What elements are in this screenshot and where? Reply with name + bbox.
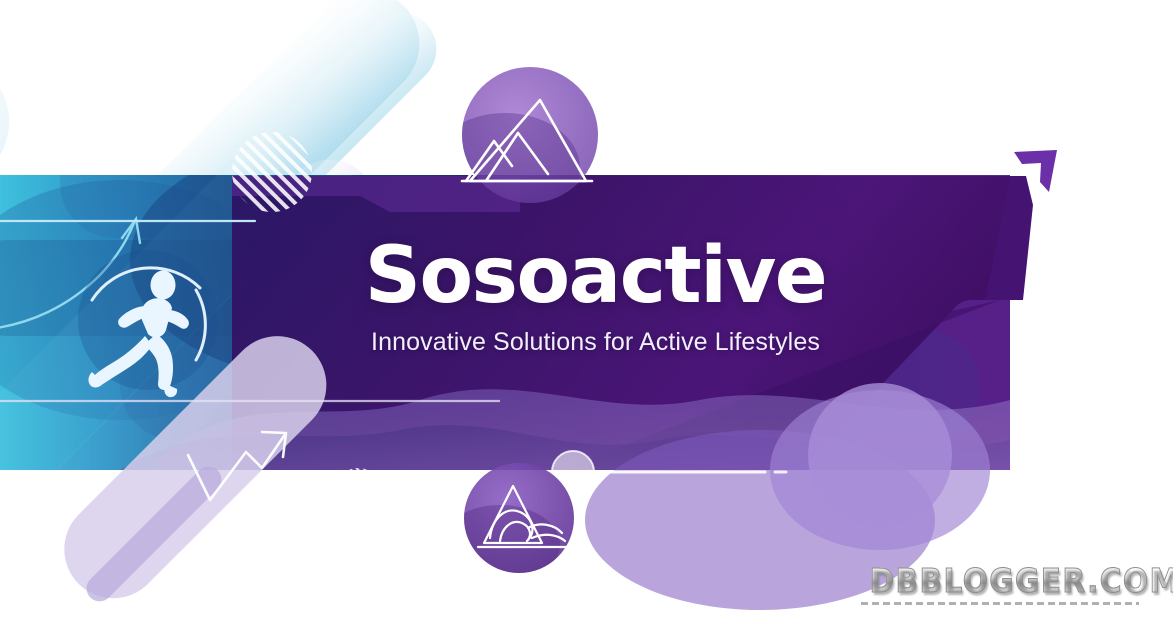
striped-circle-large-icon (232, 132, 312, 212)
banner-artwork (0, 0, 1173, 640)
watermark-underline (861, 602, 1139, 605)
striped-circle-small-icon (334, 468, 382, 516)
watermark: DBBLOGGER.COM (855, 561, 1145, 607)
watermark-text: DBBLOGGER.COM (870, 561, 1131, 601)
banner-graphic: Sosoactive Innovative Solutions for Acti… (0, 0, 1173, 640)
